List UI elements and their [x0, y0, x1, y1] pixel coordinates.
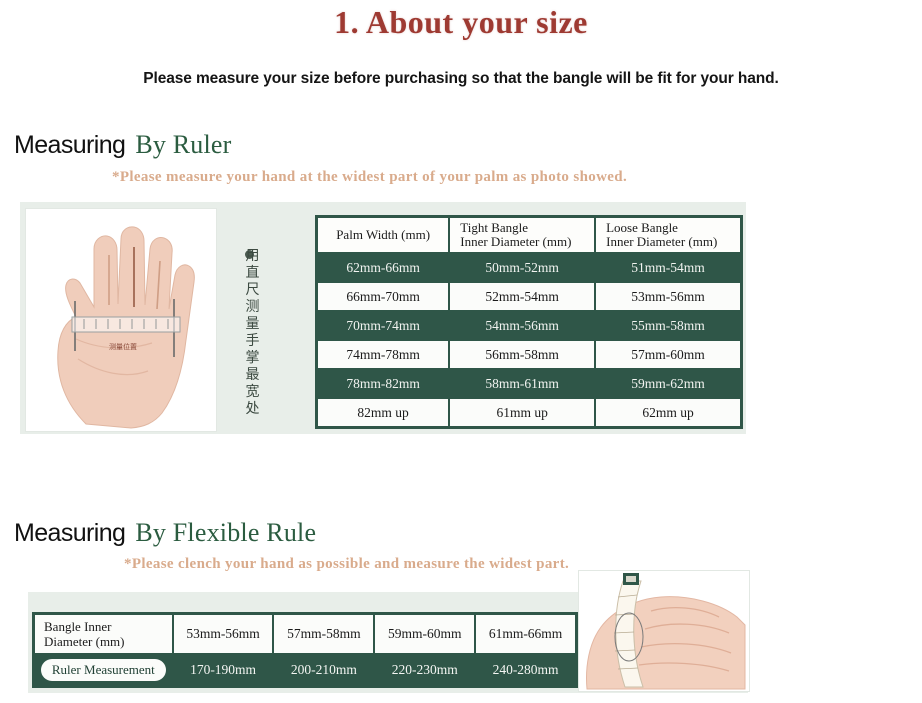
cell-loose: 51mm-54mm	[595, 253, 741, 282]
header-loose-bangle: Loose Bangle Inner Diameter (mm)	[595, 217, 741, 253]
cell-inner-diameter: 53mm-56mm	[173, 614, 274, 654]
header-tight-bangle-line1: Tight Bangle	[460, 220, 528, 235]
cell-palm-width: 62mm-66mm	[317, 253, 449, 282]
note-flexible: *Please clench your hand as possible and…	[124, 556, 569, 573]
table-row: 74mm-78mm 56mm-58mm 57mm-60mm	[317, 340, 741, 369]
cell-tight: 52mm-54mm	[449, 282, 595, 311]
table-row: 70mm-74mm 54mm-56mm 55mm-58mm	[317, 311, 741, 340]
palm-photo: 测量位置	[25, 208, 217, 432]
cell-tight: 58mm-61mm	[449, 369, 595, 398]
table-ruler-sizes: Palm Width (mm) Tight Bangle Inner Diame…	[315, 215, 743, 429]
cell-palm-width: 70mm-74mm	[317, 311, 449, 340]
cell-tight: 54mm-56mm	[449, 311, 595, 340]
cell-ruler-measurement: 200-210mm	[273, 654, 374, 686]
header-loose-bangle-line2: Inner Diameter (mm)	[606, 234, 717, 249]
header-bangle-inner-diameter-line1: Bangle Inner	[44, 619, 112, 634]
cell-loose: 53mm-56mm	[595, 282, 741, 311]
cell-palm-width: 82mm up	[317, 398, 449, 427]
cell-loose: 57mm-60mm	[595, 340, 741, 369]
cell-inner-diameter: 59mm-60mm	[374, 614, 475, 654]
header-palm-width: Palm Width (mm)	[317, 217, 449, 253]
table-row-header: Palm Width (mm) Tight Bangle Inner Diame…	[317, 217, 741, 253]
page-title: 1. About your size	[0, 4, 922, 41]
header-tight-bangle: Tight Bangle Inner Diameter (mm)	[449, 217, 595, 253]
table-row-header: Bangle Inner Diameter (mm) 53mm-56mm 57m…	[34, 614, 576, 654]
header-bangle-inner-diameter: Bangle Inner Diameter (mm)	[34, 614, 173, 654]
section-heading-flexible: MeasuringBy Flexible Rule	[14, 518, 316, 548]
palm-photo-caption-cn: 用直尺测量手掌最宽处	[243, 248, 263, 418]
cell-inner-diameter: 61mm-66mm	[475, 614, 576, 654]
cell-ruler-measurement: 220-230mm	[374, 654, 475, 686]
cell-tight: 61mm up	[449, 398, 595, 427]
section-heading-ruler: MeasuringBy Ruler	[14, 130, 232, 160]
ruler-measurement-badge: Ruler Measurement	[41, 659, 166, 681]
cell-ruler-measurement: 170-190mm	[173, 654, 274, 686]
tape-photo-illustration	[579, 571, 749, 691]
cell-loose: 62mm up	[595, 398, 741, 427]
label-ruler-measurement: Ruler Measurement	[34, 654, 173, 686]
cell-inner-diameter: 57mm-58mm	[273, 614, 374, 654]
cell-loose: 59mm-62mm	[595, 369, 741, 398]
tape-photo	[578, 570, 750, 692]
cell-tight: 56mm-58mm	[449, 340, 595, 369]
cell-palm-width: 74mm-78mm	[317, 340, 449, 369]
table-row: Ruler Measurement 170-190mm 200-210mm 22…	[34, 654, 576, 686]
header-loose-bangle-line1: Loose Bangle	[606, 220, 678, 235]
section-heading-flexible-accent: By Flexible Rule	[135, 518, 316, 547]
table-row: 82mm up 61mm up 62mm up	[317, 398, 741, 427]
table-flexible-sizes: Bangle Inner Diameter (mm) 53mm-56mm 57m…	[32, 612, 578, 688]
section-heading-ruler-accent: By Ruler	[135, 130, 231, 159]
palm-photo-illustration: 测量位置	[26, 209, 216, 431]
section-heading-flexible-plain: Measuring	[14, 519, 125, 547]
table-row: 62mm-66mm 50mm-52mm 51mm-54mm	[317, 253, 741, 282]
section-heading-ruler-plain: Measuring	[14, 131, 125, 159]
header-bangle-inner-diameter-line2: Diameter (mm)	[44, 634, 125, 649]
table-row: 66mm-70mm 52mm-54mm 53mm-56mm	[317, 282, 741, 311]
cell-palm-width: 78mm-82mm	[317, 369, 449, 398]
cell-loose: 55mm-58mm	[595, 311, 741, 340]
cell-tight: 50mm-52mm	[449, 253, 595, 282]
header-tight-bangle-line2: Inner Diameter (mm)	[460, 234, 571, 249]
svg-text:测量位置: 测量位置	[109, 342, 137, 351]
cell-ruler-measurement: 240-280mm	[475, 654, 576, 686]
cell-palm-width: 66mm-70mm	[317, 282, 449, 311]
page-subtitle: Please measure your size before purchasi…	[0, 70, 922, 88]
note-ruler: *Please measure your hand at the widest …	[112, 169, 627, 186]
table-row: 78mm-82mm 58mm-61mm 59mm-62mm	[317, 369, 741, 398]
